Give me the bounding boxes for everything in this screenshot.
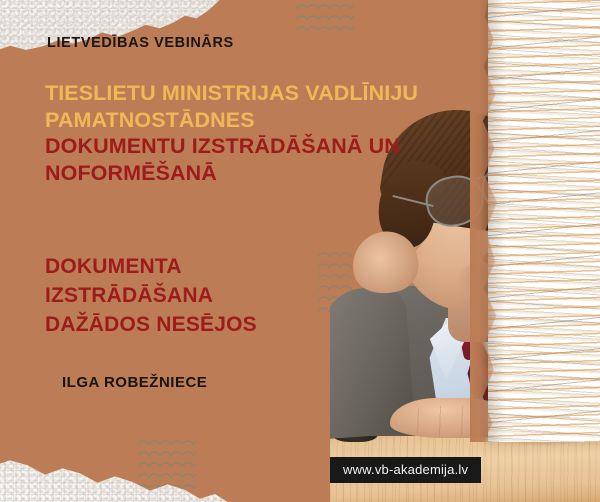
webinar-poster: LIETVEDĪBAS VEBINĀRS TIESLIETU MINISTRIJ… [0, 0, 600, 502]
headline-line: DOKUMENTU IZSTRĀDĀŠANĀ UN [45, 133, 475, 160]
eyebrow-label: LIETVEDĪBAS VEBINĀRS [47, 35, 234, 51]
headline-line: NOFORMĒŠANĀ [45, 160, 475, 187]
headline-line: PAMATNOSTĀDNES [45, 107, 475, 134]
subheadline: DOKUMENTA IZSTRĀDĀŠANA DAŽĀDOS NESĒJOS [45, 252, 345, 339]
website-url-badge[interactable]: www.vb-akademija.lv [330, 457, 481, 483]
subheadline-line: IZSTRĀDĀŠANA [45, 281, 345, 310]
subheadline-line: DAŽĀDOS NESĒJOS [45, 310, 345, 339]
photo-man-with-paper-stack [330, 0, 600, 502]
text-content-area: LIETVEDĪBAS VEBINĀRS TIESLIETU MINISTRIJ… [0, 0, 340, 502]
subheadline-line: DOKUMENTA [45, 252, 345, 281]
headline: TIESLIETU MINISTRIJAS VADLĪNIJU PAMATNOS… [45, 80, 475, 186]
presenter-name: ILGA ROBEŽNIECE [62, 374, 207, 391]
headline-line: TIESLIETU MINISTRIJAS VADLĪNIJU [45, 80, 475, 107]
